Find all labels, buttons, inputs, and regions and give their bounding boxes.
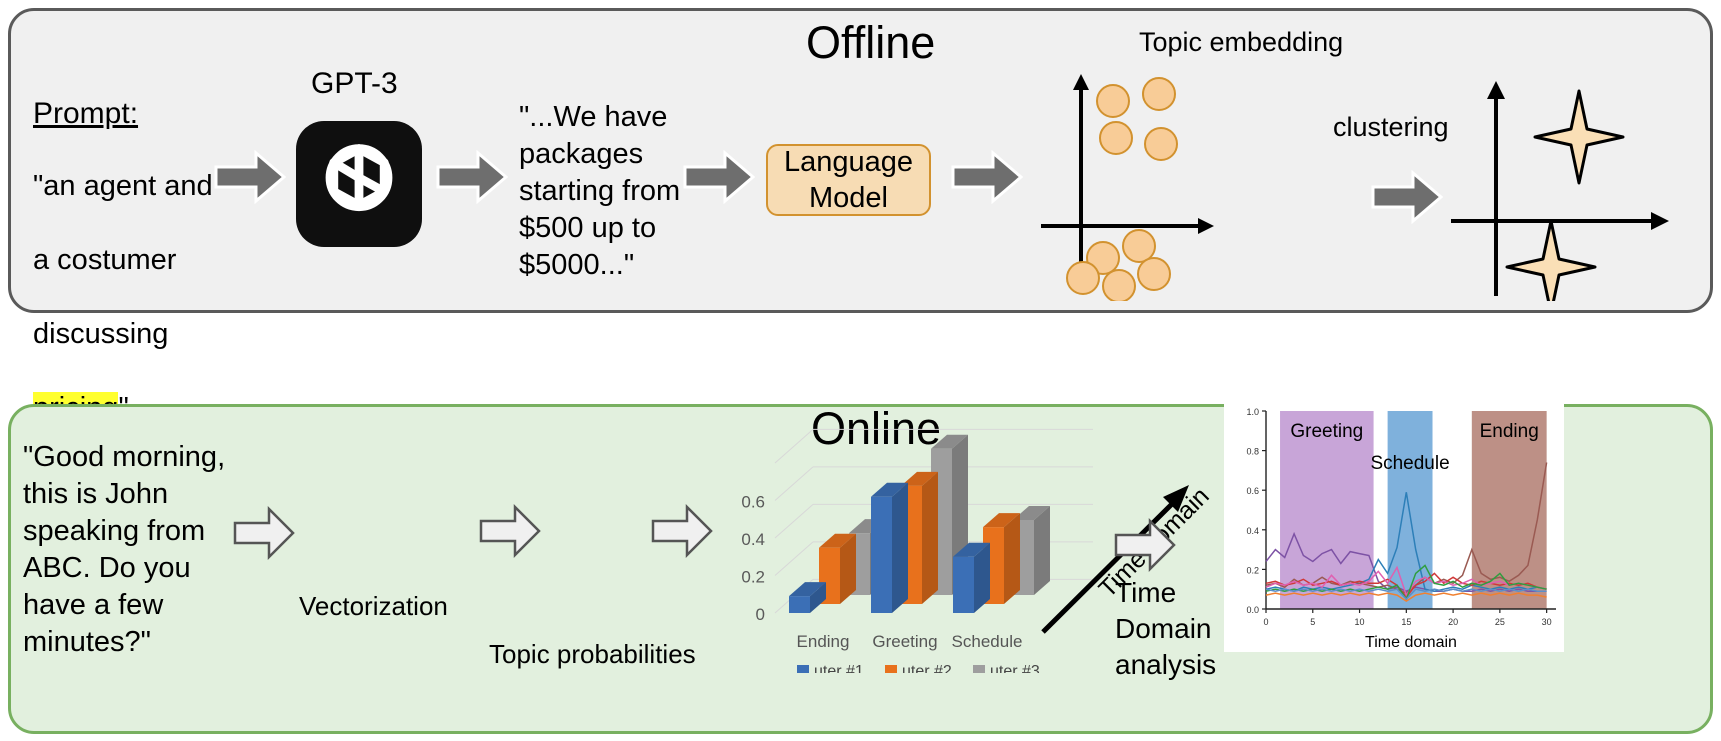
- gpt3-label: GPT-3: [311, 67, 398, 101]
- topic-time-series-chart: GreetingScheduleEnding0.00.20.40.60.81.0…: [1224, 397, 1564, 652]
- svg-text:25: 25: [1495, 617, 1505, 627]
- svg-text:20: 20: [1448, 617, 1458, 627]
- svg-text:Greeting: Greeting: [872, 632, 937, 651]
- svg-text:0.6: 0.6: [1246, 486, 1259, 496]
- prompt-line-1: "an agent and: [33, 170, 213, 202]
- clustering-label: clustering: [1333, 112, 1449, 143]
- online-panel: Online "Good morning, this is John speak…: [8, 404, 1713, 734]
- offline-panel: Offline Prompt: "an agent and a costumer…: [8, 8, 1713, 313]
- prompt-line-3: discussing: [33, 318, 168, 350]
- arrow-utterance-to-lm: [233, 505, 295, 561]
- prompt-line-2: a costumer: [33, 244, 176, 276]
- svg-text:Time domain: Time domain: [1365, 634, 1457, 651]
- svg-text:0.4: 0.4: [1246, 526, 1259, 536]
- openai-logo-icon: [296, 121, 422, 247]
- svg-text:uter #1: uter #1: [814, 663, 864, 673]
- topic-probabilities-caption: Topic probabilities: [489, 639, 696, 670]
- arrow-text-to-lm: [683, 149, 755, 205]
- svg-text:0: 0: [1263, 617, 1268, 627]
- svg-text:uter #3: uter #3: [990, 663, 1040, 673]
- arrow-lm-to-vector: [479, 503, 541, 559]
- diagram-canvas: Offline Prompt: "an agent and a costumer…: [0, 0, 1721, 741]
- svg-text:Greeting: Greeting: [1290, 421, 1363, 442]
- prompt-heading: Prompt:: [33, 97, 138, 131]
- svg-text:0.8: 0.8: [1246, 447, 1259, 457]
- arrow-prompt-to-gpt3: [214, 149, 286, 205]
- svg-text:0.6: 0.6: [741, 493, 765, 512]
- svg-text:Schedule: Schedule: [952, 632, 1023, 651]
- vectorization-label: Vectorization: [299, 591, 448, 622]
- language-model-box-offline: Language Model: [766, 144, 931, 216]
- svg-text:15: 15: [1401, 617, 1411, 627]
- svg-text:0.4: 0.4: [741, 530, 765, 549]
- svg-text:0: 0: [756, 605, 765, 624]
- svg-text:Schedule: Schedule: [1370, 453, 1449, 474]
- svg-text:Ending: Ending: [797, 632, 850, 651]
- svg-text:uter #2: uter #2: [902, 663, 952, 673]
- arrow-lm-to-embedding: [951, 149, 1023, 205]
- svg-text:10: 10: [1355, 617, 1365, 627]
- svg-text:0.2: 0.2: [741, 568, 765, 587]
- svg-text:0.0: 0.0: [1246, 605, 1259, 615]
- svg-text:1.0: 1.0: [1246, 407, 1259, 417]
- arrow-embedding-to-clusters: [1371, 169, 1443, 225]
- cluster-centroid-plot: [1451, 71, 1681, 301]
- online-utterance-text: "Good morning, this is John speaking fro…: [23, 439, 231, 661]
- arrow-to-time-domain-analysis: [1114, 517, 1176, 573]
- svg-text:5: 5: [1310, 617, 1315, 627]
- topic-embedding-label: Topic embedding: [1139, 27, 1343, 58]
- offline-panel-title: Offline: [806, 17, 935, 69]
- svg-text:30: 30: [1542, 617, 1552, 627]
- svg-text:Ending: Ending: [1480, 421, 1539, 442]
- svg-text:0.2: 0.2: [1246, 565, 1259, 575]
- topic-embedding-scatter: [1041, 66, 1261, 301]
- arrow-gpt3-to-text: [436, 149, 508, 205]
- generated-text: "...We have packages starting from $500 …: [519, 99, 709, 284]
